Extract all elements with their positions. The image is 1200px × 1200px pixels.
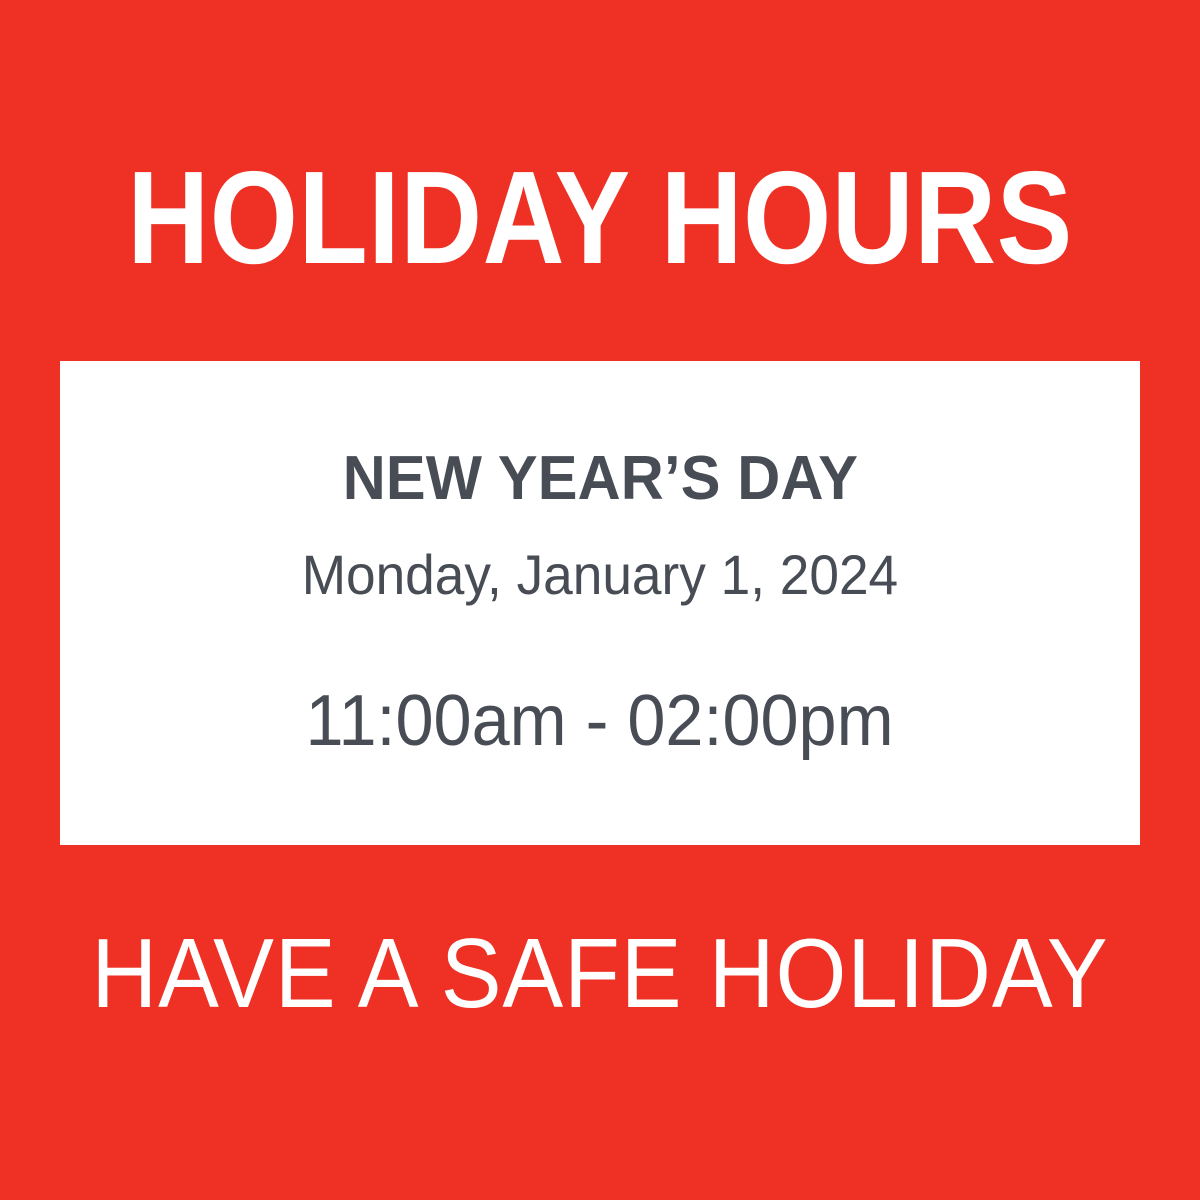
holiday-info-card: NEW YEAR’S DAY Monday, January 1, 2024 1… [60, 361, 1140, 845]
poster-heading: HOLIDAY HOURS [84, 148, 1116, 288]
holiday-info-card-content: NEW YEAR’S DAY Monday, January 1, 2024 1… [100, 445, 1100, 760]
holiday-date: Monday, January 1, 2024 [302, 540, 898, 610]
holiday-name: NEW YEAR’S DAY [342, 445, 857, 513]
poster-footer-message: HAVE A SAFE HOLIDAY [42, 918, 1158, 1028]
holiday-hours-range: 11:00am - 02:00pm [306, 682, 894, 761]
holiday-hours-poster: HOLIDAY HOURS NEW YEAR’S DAY Monday, Jan… [0, 0, 1200, 1200]
